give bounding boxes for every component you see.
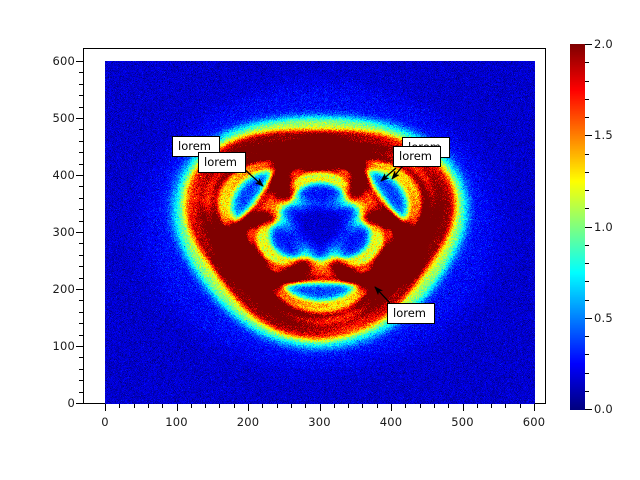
colorbar-minor-tick [585, 208, 589, 209]
colorbar-major-tick [585, 409, 592, 410]
x-axis-minor-tick [405, 404, 406, 408]
y-axis-minor-tick [79, 335, 83, 336]
y-axis-minor-tick [79, 221, 83, 222]
x-axis-minor-tick [505, 404, 506, 408]
y-axis-minor-tick [79, 107, 83, 108]
y-axis-major-tick [76, 118, 83, 119]
colorbar-minor-tick [585, 300, 589, 301]
x-axis-minor-tick [520, 404, 521, 408]
y-axis-tick-label: 500 [39, 111, 75, 125]
colorbar-major-tick [585, 227, 592, 228]
x-axis-minor-tick [334, 404, 335, 408]
colorbar-major-tick [585, 135, 592, 136]
y-axis-minor-tick [79, 369, 83, 370]
y-axis-minor-tick [79, 300, 83, 301]
colorbar-minor-tick [585, 62, 589, 63]
y-axis-minor-tick [79, 255, 83, 256]
colorbar-major-tick [585, 44, 592, 45]
colorbar-minor-tick [585, 245, 589, 246]
x-axis-tick-label: 0 [101, 415, 109, 429]
colorbar-minor-tick [585, 354, 589, 355]
y-axis-major-tick [76, 346, 83, 347]
x-axis-minor-tick [277, 404, 278, 408]
annot-left-front[interactable]: lorem [198, 152, 246, 173]
colorbar-tick-label: 1.5 [594, 128, 613, 142]
heatmap-image [105, 61, 535, 404]
x-axis-minor-tick [148, 404, 149, 408]
x-axis-minor-tick [234, 404, 235, 408]
colorbar-minor-tick [585, 117, 589, 118]
y-axis-minor-tick [79, 209, 83, 210]
colorbar-minor-tick [585, 391, 589, 392]
x-axis-minor-tick [219, 404, 220, 408]
colorbar-minor-tick [585, 336, 589, 337]
y-axis-tick-label: 200 [39, 282, 75, 296]
y-axis-major-tick [76, 403, 83, 404]
y-axis-minor-tick [79, 392, 83, 393]
x-axis-major-tick [177, 404, 178, 411]
colorbar: 0.00.51.01.52.0 [570, 44, 585, 410]
x-axis-minor-tick [305, 404, 306, 408]
x-axis-minor-tick [162, 404, 163, 408]
colorbar-tick-label: 0.0 [594, 402, 613, 416]
x-axis-minor-tick [262, 404, 263, 408]
x-axis-minor-tick [477, 404, 478, 408]
x-axis-minor-tick [291, 404, 292, 408]
colorbar-minor-tick [585, 281, 589, 282]
x-axis-tick-label: 500 [451, 415, 474, 429]
colorbar-minor-tick [585, 172, 589, 173]
y-axis-minor-tick [79, 323, 83, 324]
y-axis-tick-label: 600 [39, 54, 75, 68]
x-axis-major-tick [463, 404, 464, 411]
x-axis-minor-tick [348, 404, 349, 408]
y-axis-major-tick [76, 289, 83, 290]
annot-bottom[interactable]: lorem [387, 303, 435, 324]
x-axis-tick-label: 100 [165, 415, 188, 429]
y-axis-minor-tick [79, 72, 83, 73]
x-axis-minor-tick [420, 404, 421, 408]
colorbar-minor-tick [585, 99, 589, 100]
y-axis-minor-tick [79, 95, 83, 96]
x-axis-tick-label: 400 [380, 415, 403, 429]
colorbar-major-tick [585, 318, 592, 319]
y-axis-minor-tick [79, 129, 83, 130]
x-axis-major-tick [391, 404, 392, 411]
annot-right-front[interactable]: lorem [393, 146, 441, 167]
y-axis-tick-label: 400 [39, 168, 75, 182]
colorbar-minor-tick [585, 373, 589, 374]
x-axis-minor-tick [377, 404, 378, 408]
x-axis-major-tick [105, 404, 106, 411]
y-axis-minor-tick [79, 141, 83, 142]
y-axis-minor-tick [79, 278, 83, 279]
y-axis-minor-tick [79, 164, 83, 165]
y-axis-minor-tick [79, 357, 83, 358]
y-axis-minor-tick [79, 198, 83, 199]
colorbar-tick-label: 0.5 [594, 311, 613, 325]
y-axis-minor-tick [79, 186, 83, 187]
y-axis-minor-tick [79, 152, 83, 153]
y-axis-minor-tick [79, 84, 83, 85]
colorbar-gradient [570, 44, 585, 410]
colorbar-minor-tick [585, 154, 589, 155]
colorbar-tick-label: 1.0 [594, 220, 613, 234]
y-axis-major-tick [76, 175, 83, 176]
y-axis-minor-tick [79, 380, 83, 381]
y-axis-minor-tick [79, 243, 83, 244]
y-axis-minor-tick [79, 312, 83, 313]
x-axis-tick-label: 300 [308, 415, 331, 429]
x-axis-major-tick [320, 404, 321, 411]
x-axis-tick-label: 600 [523, 415, 546, 429]
x-axis-minor-tick [491, 404, 492, 408]
y-axis-tick-label: 300 [39, 225, 75, 239]
x-axis-minor-tick [362, 404, 363, 408]
x-axis-minor-tick [134, 404, 135, 408]
y-axis-major-tick [76, 61, 83, 62]
x-axis-minor-tick [191, 404, 192, 408]
y-axis-tick-label: 100 [39, 339, 75, 353]
figure-canvas: 01002003004005006000100200300400500600 0… [0, 0, 640, 480]
colorbar-minor-tick [585, 81, 589, 82]
colorbar-minor-tick [585, 263, 589, 264]
x-axis-minor-tick [434, 404, 435, 408]
x-axis-tick-label: 200 [237, 415, 260, 429]
colorbar-minor-tick [585, 190, 589, 191]
x-axis-minor-tick [205, 404, 206, 408]
x-axis-major-tick [534, 404, 535, 411]
x-axis-minor-tick [119, 404, 120, 408]
colorbar-tick-label: 2.0 [594, 37, 613, 51]
x-axis-major-tick [248, 404, 249, 411]
y-axis-tick-label: 0 [39, 396, 75, 410]
y-axis-minor-tick [79, 266, 83, 267]
y-axis-major-tick [76, 232, 83, 233]
x-axis-minor-tick [448, 404, 449, 408]
